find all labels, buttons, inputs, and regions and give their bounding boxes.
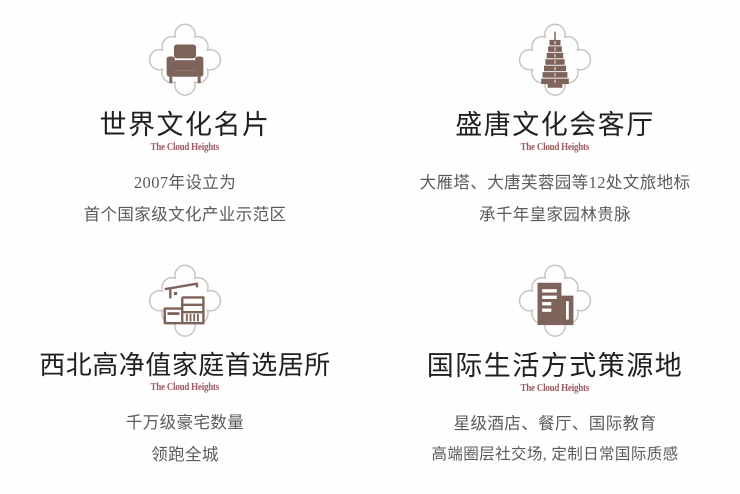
brand-subtitle: The Cloud Heights: [151, 141, 219, 153]
feature-line: 星级酒店、餐厅、国际教育: [431, 408, 678, 440]
feature-line: 首个国家级文化产业示范区: [84, 199, 287, 231]
feature-line: 千万级豪宅数量: [126, 407, 244, 439]
feature-cell-2: 盛唐文化会客厅 The Cloud Heights 大雁塔、大唐芙蓉园等12处文…: [370, 0, 740, 247]
feature-line: 高端圈层社交场, 定制日常国际质感: [431, 440, 678, 470]
feature-cell-4: 国际生活方式策源地 The Cloud Heights 星级酒店、餐厅、国际教育…: [370, 247, 740, 494]
brand-subtitle: The Cloud Heights: [521, 141, 589, 153]
feature-title: 世界文化名片: [100, 110, 271, 140]
feature-line: 领跑全城: [126, 439, 244, 471]
feature-description: 星级酒店、餐厅、国际教育 高端圈层社交场, 定制日常国际质感: [431, 408, 678, 470]
brand-subtitle: The Cloud Heights: [151, 381, 219, 393]
pagoda-in-cloud-frame-icon: [509, 16, 601, 108]
feature-cell-1: 世界文化名片 The Cloud Heights 2007年设立为 首个国家级文…: [0, 0, 370, 247]
villa-in-cloud-frame-icon: [139, 257, 231, 349]
city-buildings-in-cloud-frame-icon: [509, 257, 601, 349]
armchair-in-cloud-frame-icon: [139, 16, 231, 108]
feature-description: 大雁塔、大唐芙蓉园等12处文旅地标 承千年皇家园林贵脉: [420, 167, 691, 231]
feature-line: 承千年皇家园林贵脉: [420, 199, 691, 231]
feature-grid: 世界文化名片 The Cloud Heights 2007年设立为 首个国家级文…: [0, 0, 740, 494]
feature-line: 大雁塔、大唐芙蓉园等12处文旅地标: [420, 167, 691, 199]
feature-description: 2007年设立为 首个国家级文化产业示范区: [84, 167, 287, 231]
feature-description: 千万级豪宅数量 领跑全城: [126, 407, 244, 471]
brand-subtitle: The Cloud Heights: [521, 382, 589, 394]
feature-title: 盛唐文化会客厅: [455, 110, 655, 140]
feature-title: 国际生活方式策源地: [427, 351, 684, 381]
feature-title: 西北高净值家庭首选居所: [39, 351, 331, 380]
feature-cell-3: 西北高净值家庭首选居所 The Cloud Heights 千万级豪宅数量 领跑…: [0, 247, 370, 494]
feature-line: 2007年设立为: [84, 167, 287, 199]
